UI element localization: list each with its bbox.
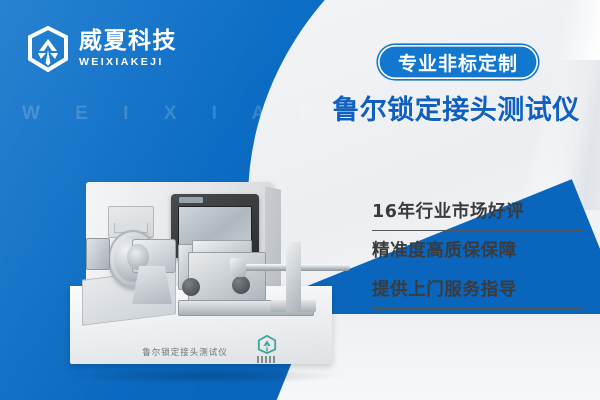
product-machine-image: 鲁尔锁定接头测试仪	[70, 182, 342, 388]
seal-logo-text-bars	[257, 356, 277, 363]
machine-ground-shadow	[64, 368, 344, 384]
brand-name-cn: 威夏科技	[79, 30, 177, 53]
feature-text: 16年行业市场好评	[372, 198, 584, 223]
feature-list: 16年行业市场好评 精准度高质保保障 提供上门服务指导	[372, 192, 584, 309]
product-banner: 威夏科技 WEIXIAKEJI W E I X I A K E 专业非标定制 鲁…	[0, 0, 600, 400]
feature-item: 16年行业市场好评	[372, 192, 584, 231]
promo-badge-label: 专业非标定制	[398, 49, 518, 76]
product-title: 鲁尔锁定接头测试仪	[322, 88, 590, 127]
clamp-knob-left	[182, 278, 200, 296]
brand-name-en: WEIXIAKEJI	[79, 57, 177, 68]
screen-brand-mark	[179, 197, 203, 203]
right-bracket	[286, 242, 301, 312]
feature-text: 精准度高质保保障	[372, 237, 584, 262]
promo-badge: 专业非标定制	[378, 45, 538, 79]
brand-logo: 威夏科技 WEIXIAKEJI	[26, 26, 177, 72]
dial-arm	[86, 238, 110, 270]
clamp-knob-right	[232, 276, 250, 294]
feature-item: 精准度高质保保障	[372, 231, 584, 270]
machine-body-side	[265, 186, 281, 294]
feature-item: 提供上门服务指导	[372, 270, 584, 309]
hexagon-mountain-logo-icon	[26, 26, 70, 72]
brand-logo-text: 威夏科技 WEIXIAKEJI	[79, 30, 177, 68]
feature-text: 提供上门服务指导	[372, 276, 584, 301]
company-seal-logo-icon	[254, 334, 280, 364]
test-rod-head	[230, 258, 246, 277]
